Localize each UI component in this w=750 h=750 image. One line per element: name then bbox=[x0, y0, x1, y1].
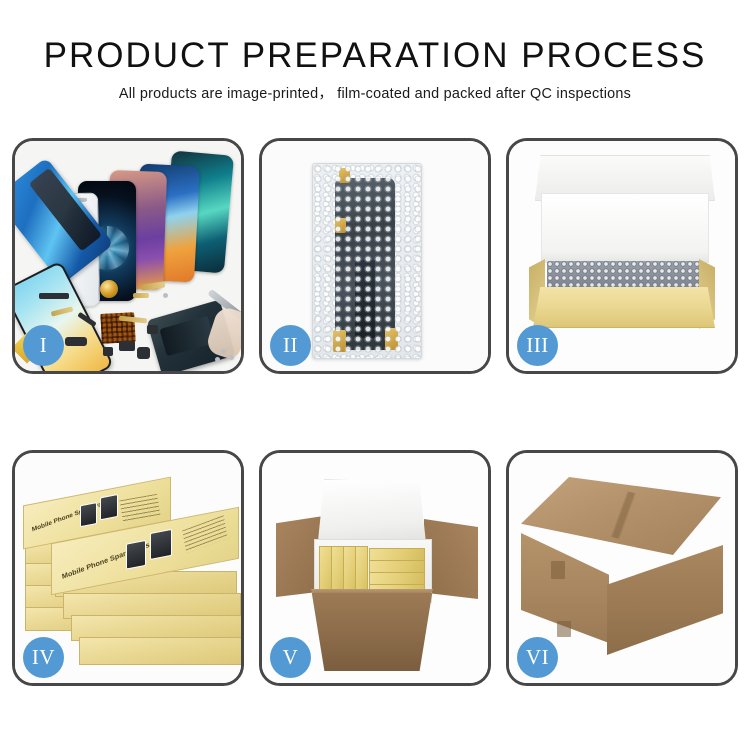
step-badge-3: III bbox=[517, 325, 558, 366]
screw-3 bbox=[215, 357, 220, 362]
step-panel-4: Mobile Phone Spare Parts Mobile Phone Sp… bbox=[12, 450, 244, 686]
step-panel-3: III bbox=[506, 138, 738, 374]
carton-body bbox=[302, 593, 442, 671]
gold-coil-part bbox=[100, 280, 118, 298]
small-module-2 bbox=[147, 325, 158, 334]
box-spec-text-front bbox=[182, 515, 228, 553]
gold-tape-tab-3 bbox=[333, 330, 346, 352]
grey-bubble-wrap bbox=[547, 261, 703, 289]
header: PRODUCT PREPARATION PROCESS All products… bbox=[0, 34, 750, 104]
step-panel-5: V bbox=[259, 450, 491, 686]
flex-bar-2 bbox=[65, 337, 87, 346]
box-swatch-b1 bbox=[80, 502, 97, 527]
styrofoam-lid bbox=[318, 479, 426, 543]
screw-1 bbox=[221, 349, 226, 354]
page-title: PRODUCT PREPARATION PROCESS bbox=[0, 34, 750, 78]
box-swatch-f1 bbox=[126, 540, 146, 570]
screw-4 bbox=[163, 293, 168, 298]
wrapped-part-neck bbox=[355, 260, 375, 338]
box-edge-r4 bbox=[79, 637, 241, 665]
product-preparation-infographic: PRODUCT PREPARATION PROCESS All products… bbox=[0, 0, 750, 750]
gold-tape-tab-2 bbox=[335, 218, 346, 233]
box-swatch-f2 bbox=[150, 529, 172, 560]
step-badge-1: I bbox=[23, 325, 64, 366]
step-panel-1: I bbox=[12, 138, 244, 374]
screw-2 bbox=[229, 355, 234, 360]
bubble-bag bbox=[312, 163, 422, 359]
page-subtitle: All products are image-printed， film-coa… bbox=[0, 85, 750, 104]
box-swatch-b2 bbox=[100, 494, 118, 520]
process-step-grid: I II bbox=[12, 138, 738, 686]
step-badge-4: IV bbox=[23, 637, 64, 678]
flex-bar-3 bbox=[119, 341, 135, 351]
step-badge-5: V bbox=[270, 637, 311, 678]
box-front-panel bbox=[533, 287, 715, 328]
step-badge-6: VI bbox=[517, 637, 558, 678]
flex-bar-1 bbox=[39, 293, 69, 299]
box-label-back: Mobile Phone Spare Parts bbox=[31, 498, 110, 533]
step-panel-2: II bbox=[259, 138, 491, 374]
small-module-3 bbox=[103, 347, 113, 356]
white-foam-sheet bbox=[541, 193, 709, 263]
step-panel-6: VI bbox=[506, 450, 738, 686]
gold-tape-tab-4 bbox=[385, 328, 398, 350]
carton-flap-right bbox=[424, 519, 478, 599]
flex-cable-2 bbox=[133, 293, 149, 298]
step-badge-2: II bbox=[270, 325, 311, 366]
gold-tape-tab-1 bbox=[339, 168, 350, 183]
small-module-1 bbox=[137, 347, 150, 359]
packing-tape-lower bbox=[557, 621, 571, 637]
packing-tape-upper bbox=[551, 561, 565, 579]
